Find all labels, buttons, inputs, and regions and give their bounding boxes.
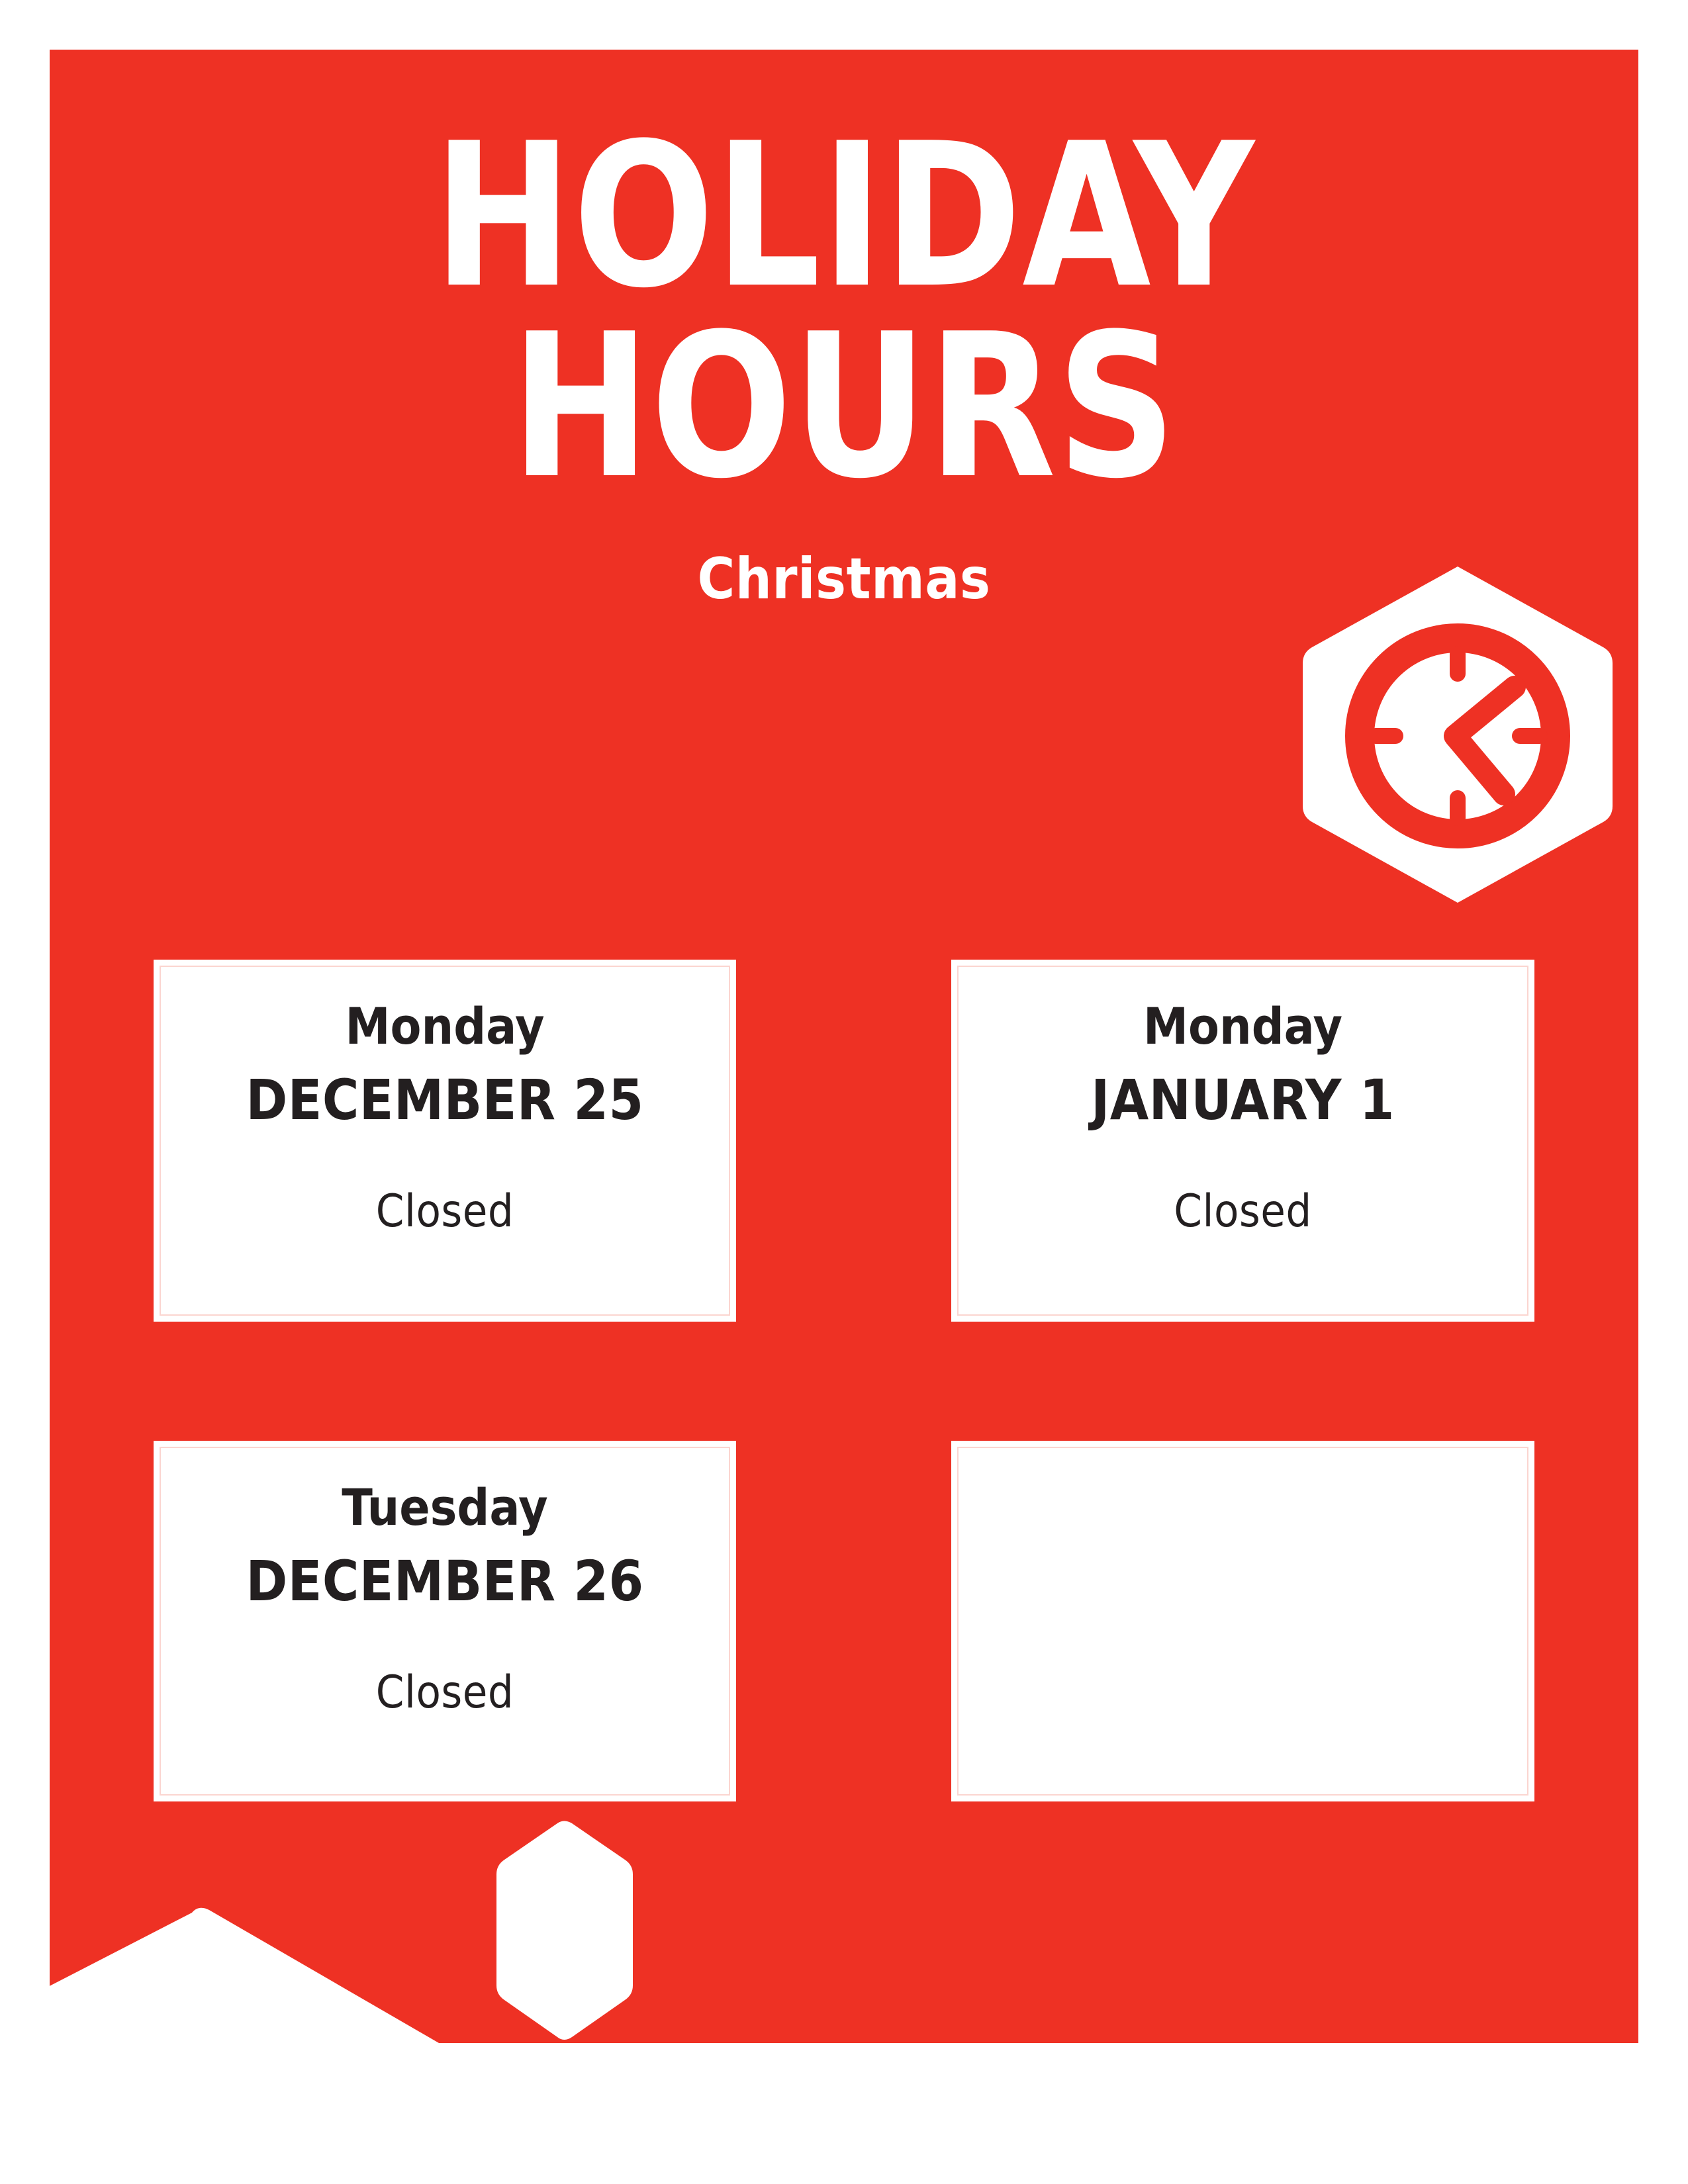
card-status-label: Closed	[978, 1189, 1508, 1234]
card-day-label: Tuesday	[180, 1482, 710, 1533]
hours-card[interactable]: Monday DECEMBER 25 Closed	[154, 960, 736, 1322]
page-title: HOLIDAY HOURS	[105, 119, 1583, 504]
card-date-label: DECEMBER 25	[180, 1072, 710, 1129]
clock-badge	[1299, 563, 1617, 907]
hours-card-grid: Monday DECEMBER 25 Closed Monday JANUARY…	[154, 960, 1534, 1801]
card-status-label: Closed	[180, 1670, 710, 1715]
clock-icon	[1360, 638, 1556, 834]
hours-card[interactable]: Tuesday DECEMBER 26 Closed	[154, 1441, 736, 1801]
holiday-hours-poster: HOLIDAY HOURS Christmas	[0, 0, 1688, 2184]
hours-card[interactable]: Monday JANUARY 1 Closed	[951, 960, 1534, 1322]
page-title-line-1: HOLIDAY	[105, 119, 1583, 314]
page-title-line-2: HOURS	[105, 310, 1583, 504]
hours-card-empty[interactable]	[951, 1441, 1534, 1801]
card-date-label: DECEMBER 26	[180, 1553, 710, 1610]
card-day-label: Monday	[180, 1001, 710, 1052]
card-day-label: Monday	[978, 1001, 1508, 1052]
card-status-label: Closed	[180, 1189, 710, 1234]
poster-header: HOLIDAY HOURS Christmas	[50, 119, 1638, 608]
card-date-label: JANUARY 1	[978, 1072, 1508, 1129]
